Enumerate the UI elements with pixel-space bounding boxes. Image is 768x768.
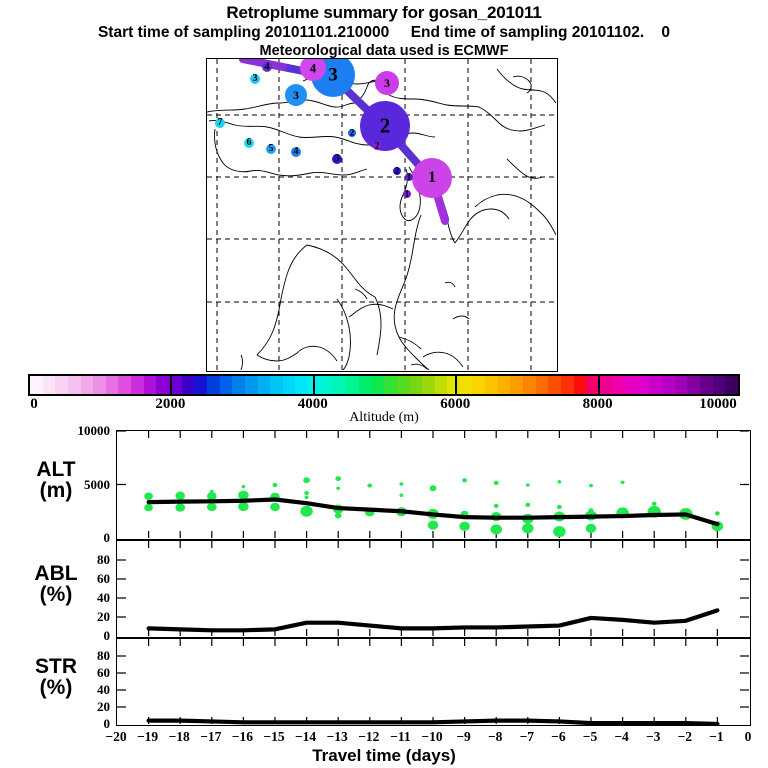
alt-scatter-marker bbox=[428, 521, 439, 530]
alt-scatter-marker bbox=[144, 504, 153, 512]
retroplume-map[interactable]: 123433347654322211 bbox=[206, 58, 558, 372]
y-tick-label: 10000 bbox=[0, 423, 110, 439]
colorbar-segment bbox=[409, 376, 422, 394]
colorbar-segment bbox=[106, 376, 119, 394]
x-tick-label: −6 bbox=[551, 729, 565, 745]
plume-blob-label: 4 bbox=[264, 62, 270, 73]
colorbar-segment bbox=[397, 376, 410, 394]
x-tick-label: −5 bbox=[583, 729, 597, 745]
altitude-colorbar bbox=[28, 374, 740, 396]
alt-scatter-marker bbox=[715, 511, 720, 515]
x-tick-label: −15 bbox=[263, 729, 284, 745]
x-axis-tick-labels: −20−19−18−17−16−15−14−13−12−11−10−9−8−7−… bbox=[0, 729, 768, 747]
colorbar-segment bbox=[561, 376, 574, 394]
alt-scatter-marker bbox=[367, 483, 372, 487]
x-tick-label: 0 bbox=[745, 729, 752, 745]
colorbar-segment bbox=[321, 376, 334, 394]
colorbar-segment bbox=[574, 376, 587, 394]
colorbar-segment bbox=[498, 376, 511, 394]
alt-scatter-marker bbox=[336, 487, 340, 490]
alt-scatter-marker bbox=[526, 483, 530, 486]
colorbar-segment bbox=[207, 376, 220, 394]
plume-blob-label: 2 bbox=[395, 167, 400, 176]
alt-scatter-marker bbox=[144, 492, 153, 500]
colorbar-segment bbox=[258, 376, 271, 394]
colorbar-segment bbox=[675, 376, 688, 394]
x-tick-label: −18 bbox=[169, 729, 190, 745]
alt-scatter-marker bbox=[557, 505, 562, 509]
alt-plot-area bbox=[117, 431, 749, 538]
colorbar-tick bbox=[313, 374, 315, 396]
alt-scatter-marker bbox=[300, 506, 312, 517]
alt-scatter-marker bbox=[494, 504, 499, 508]
colorbar-segment bbox=[220, 376, 233, 394]
colorbar-segment bbox=[182, 376, 195, 394]
alt-scatter-marker bbox=[494, 481, 499, 485]
plume-blob-label: 3 bbox=[335, 154, 340, 164]
x-tick-label: −17 bbox=[200, 729, 221, 745]
alt-scatter-marker bbox=[175, 503, 185, 511]
colorbar-segment bbox=[435, 376, 448, 394]
y-tick-label: 60 bbox=[0, 571, 110, 587]
colorbar-axis-title: Altitude (m) bbox=[0, 410, 768, 426]
colorbar-segment bbox=[649, 376, 662, 394]
alt-scatter-marker bbox=[399, 494, 403, 497]
meteorological-data-line: Meteorological data used is ECMWF bbox=[0, 43, 768, 59]
alt-scatter-marker bbox=[303, 477, 310, 483]
colorbar-segment bbox=[194, 376, 207, 394]
sampling-time-line: Start time of sampling 20101101.210000 E… bbox=[0, 24, 768, 42]
colorbar-segment bbox=[30, 376, 43, 394]
x-axis-title: Travel time (days) bbox=[0, 746, 768, 766]
colorbar-tick bbox=[455, 374, 457, 396]
colorbar-segment bbox=[144, 376, 157, 394]
alt-scatter-marker bbox=[522, 523, 534, 533]
str-plot-area bbox=[117, 639, 749, 724]
colorbar-segment bbox=[93, 376, 106, 394]
colorbar-segment bbox=[295, 376, 308, 394]
x-tick-label: −2 bbox=[678, 729, 692, 745]
colorbar-segment bbox=[611, 376, 624, 394]
plume-blob-label: 2 bbox=[375, 142, 380, 151]
colorbar-segment bbox=[232, 376, 245, 394]
y-tick-label: 5000 bbox=[0, 477, 110, 493]
alt-scatter-marker bbox=[335, 513, 342, 519]
y-tick-label: 40 bbox=[0, 590, 110, 606]
colorbar-segment bbox=[700, 376, 713, 394]
colorbar-segment bbox=[333, 376, 346, 394]
panel-alt[interactable] bbox=[116, 430, 751, 540]
alt-scatter-marker bbox=[304, 491, 309, 495]
y-tick-label: 0 bbox=[0, 628, 110, 644]
x-tick-label: −10 bbox=[421, 729, 442, 745]
abl-plot-area bbox=[117, 541, 749, 636]
page-title: Retroplume summary for gosan_201011 bbox=[0, 3, 768, 23]
plume-blob-label: 6 bbox=[247, 138, 252, 148]
x-tick-label: −14 bbox=[295, 729, 316, 745]
colorbar-tick bbox=[170, 374, 172, 396]
panel-abl[interactable] bbox=[116, 540, 751, 638]
x-tick-label: −7 bbox=[520, 729, 534, 745]
colorbar-segment bbox=[131, 376, 144, 394]
alt-scatter-marker bbox=[273, 483, 278, 487]
alt-scatter-marker bbox=[305, 496, 309, 499]
colorbar-segment bbox=[725, 376, 738, 394]
colorbar-segment bbox=[447, 376, 460, 394]
alt-scatter-marker bbox=[652, 502, 657, 506]
x-tick-label: −3 bbox=[646, 729, 660, 745]
y-tick-label: 60 bbox=[0, 665, 110, 681]
colorbar-segment bbox=[270, 376, 283, 394]
colorbar-segment bbox=[156, 376, 169, 394]
x-tick-label: −4 bbox=[614, 729, 628, 745]
x-tick-label: −8 bbox=[488, 729, 502, 745]
y-tick-label: 80 bbox=[0, 552, 110, 568]
alt-scatter-marker bbox=[175, 492, 185, 500]
alt-scatter-marker bbox=[207, 503, 217, 511]
alt-scatter-marker bbox=[430, 485, 437, 491]
colorbar-segment bbox=[460, 376, 473, 394]
y-tick-label: 20 bbox=[0, 699, 110, 715]
plume-blob-label: 1 bbox=[407, 173, 412, 182]
plume-blob-label: 3 bbox=[328, 66, 338, 85]
colorbar-segment bbox=[485, 376, 498, 394]
colorbar-segment bbox=[472, 376, 485, 394]
colorbar-segment bbox=[245, 376, 258, 394]
str-mean-line bbox=[149, 721, 718, 724]
colorbar-segment bbox=[68, 376, 81, 394]
x-tick-label: −13 bbox=[327, 729, 348, 745]
alt-scatter-marker bbox=[238, 491, 249, 500]
plume-blob-label: 3 bbox=[253, 74, 258, 84]
colorbar-segment bbox=[510, 376, 523, 394]
plume-blob-label: 2 bbox=[350, 129, 355, 138]
plume-blob-label: 5 bbox=[269, 144, 274, 154]
alt-scatter-marker bbox=[335, 476, 341, 481]
alt-scatter-marker bbox=[459, 522, 470, 531]
y-tick-label: 40 bbox=[0, 682, 110, 698]
colorbar-segment bbox=[118, 376, 131, 394]
alt-scatter-marker bbox=[621, 481, 625, 484]
x-tick-label: −19 bbox=[137, 729, 158, 745]
panel-str[interactable] bbox=[116, 638, 751, 726]
plume-blob-label: 4 bbox=[294, 147, 299, 157]
alt-scatter-marker bbox=[241, 485, 245, 488]
colorbar-segment bbox=[346, 376, 359, 394]
plume-blob-label: 4 bbox=[310, 62, 317, 75]
plume-blob-label: 3 bbox=[384, 77, 390, 89]
colorbar-segment bbox=[713, 376, 726, 394]
y-tick-label: 0 bbox=[0, 530, 110, 546]
colorbar-segment bbox=[43, 376, 56, 394]
colorbar-segment bbox=[599, 376, 612, 394]
alt-scatter-marker bbox=[586, 524, 597, 533]
plume-blob-label: 3 bbox=[293, 89, 299, 101]
colorbar-segment bbox=[55, 376, 68, 394]
colorbar-segment bbox=[662, 376, 675, 394]
title-block: Retroplume summary for gosan_201011 Star… bbox=[0, 0, 768, 59]
alt-scatter-marker bbox=[399, 482, 403, 485]
alt-scatter-marker bbox=[553, 526, 565, 537]
x-tick-label: −16 bbox=[232, 729, 253, 745]
colorbar-segment bbox=[371, 376, 384, 394]
colorbar-segment bbox=[359, 376, 372, 394]
alt-scatter-marker bbox=[462, 478, 467, 482]
alt-scatter-marker bbox=[557, 480, 561, 483]
colorbar-segment bbox=[422, 376, 435, 394]
x-tick-label: −20 bbox=[105, 729, 126, 745]
alt-scatter-marker bbox=[525, 503, 530, 507]
x-tick-label: −12 bbox=[358, 729, 379, 745]
x-tick-label: −1 bbox=[709, 729, 723, 745]
colorbar-segment bbox=[81, 376, 94, 394]
x-tick-label: −11 bbox=[390, 729, 410, 745]
alt-scatter-marker bbox=[238, 502, 249, 511]
colorbar-segment bbox=[687, 376, 700, 394]
colorbar-segment bbox=[624, 376, 637, 394]
colorbar-tick bbox=[598, 374, 600, 396]
x-tick-label: −9 bbox=[456, 729, 470, 745]
y-tick-label: 80 bbox=[0, 648, 110, 664]
plume-blob-label: 7 bbox=[218, 118, 223, 128]
colorbar-segment bbox=[283, 376, 296, 394]
colorbar-segment bbox=[523, 376, 536, 394]
alt-scatter-marker bbox=[589, 484, 593, 487]
alt-scatter-marker bbox=[270, 503, 280, 511]
colorbar-segment bbox=[637, 376, 650, 394]
colorbar-segment bbox=[536, 376, 549, 394]
colorbar-segment bbox=[384, 376, 397, 394]
plume-blob-label: 1 bbox=[405, 190, 410, 199]
alt-scatter-marker bbox=[490, 524, 502, 534]
plume-blob-label: 1 bbox=[428, 170, 436, 186]
y-tick-label: 20 bbox=[0, 609, 110, 625]
abl-mean-line bbox=[149, 610, 718, 630]
plume-blob-label: 2 bbox=[380, 116, 391, 137]
colorbar-segment bbox=[548, 376, 561, 394]
